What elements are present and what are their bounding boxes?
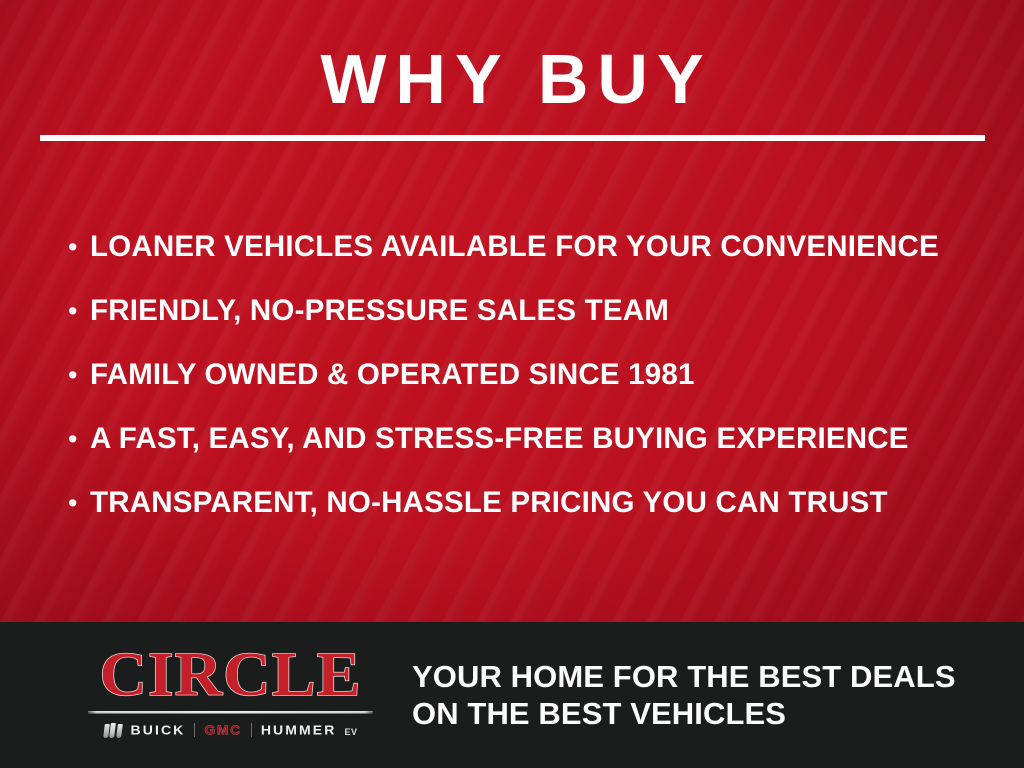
page-title: WHY BUY [0,44,1024,114]
dealership-logo: CIRCLE BUICK GMC HUMMER EV [88,644,373,739]
why-buy-slide: WHY BUY • LOANER VEHICLES AVAILABLE FOR … [0,0,1024,768]
brand-label-gmc: GMC [204,724,241,737]
list-item-label: FRIENDLY, NO-PRESSURE SALES TEAM [90,296,669,326]
list-item: • LOANER VEHICLES AVAILABLE FOR YOUR CON… [64,215,984,279]
logo-wordmark: CIRCLE [79,644,381,706]
slide-footer: CIRCLE BUICK GMC HUMMER EV YOUR HOME FOR… [0,622,1024,768]
list-item: • FRIENDLY, NO-PRESSURE SALES TEAM [64,279,984,343]
logo-divider [88,711,373,714]
footer-tagline-line2: ON THE BEST VEHICLES [412,695,956,732]
brand-separator [251,723,252,737]
buick-trishield-icon [104,723,122,738]
brand-marks-row: BUICK GMC HUMMER EV [88,721,373,739]
brand-label-hummer: HUMMER [261,724,337,737]
list-item-label: A FAST, EASY, AND STRESS-FREE BUYING EXP… [90,424,909,454]
list-item: • A FAST, EASY, AND STRESS-FREE BUYING E… [64,407,984,471]
list-item: • FAMILY OWNED & OPERATED SINCE 1981 [64,343,984,407]
bullet-marker-icon: • [64,362,90,389]
list-item-label: LOANER VEHICLES AVAILABLE FOR YOUR CONVE… [90,232,939,262]
bullet-marker-icon: • [64,298,90,325]
bullet-marker-icon: • [64,426,90,453]
list-item: • TRANSPARENT, NO-HASSLE PRICING YOU CAN… [64,471,984,535]
footer-tagline-line1: YOUR HOME FOR THE BEST DEALS [412,658,956,695]
brand-label-hummer-ev-suffix: EV [344,727,357,737]
brand-label-buick: BUICK [131,724,186,737]
footer-tagline: YOUR HOME FOR THE BEST DEALS ON THE BEST… [412,658,956,732]
bullet-marker-icon: • [64,234,90,261]
list-item-label: FAMILY OWNED & OPERATED SINCE 1981 [90,360,695,390]
bullet-marker-icon: • [64,490,90,517]
title-divider [40,135,985,141]
brand-separator [194,723,195,737]
list-item-label: TRANSPARENT, NO-HASSLE PRICING YOU CAN T… [90,488,888,518]
benefits-list: • LOANER VEHICLES AVAILABLE FOR YOUR CON… [64,215,984,535]
